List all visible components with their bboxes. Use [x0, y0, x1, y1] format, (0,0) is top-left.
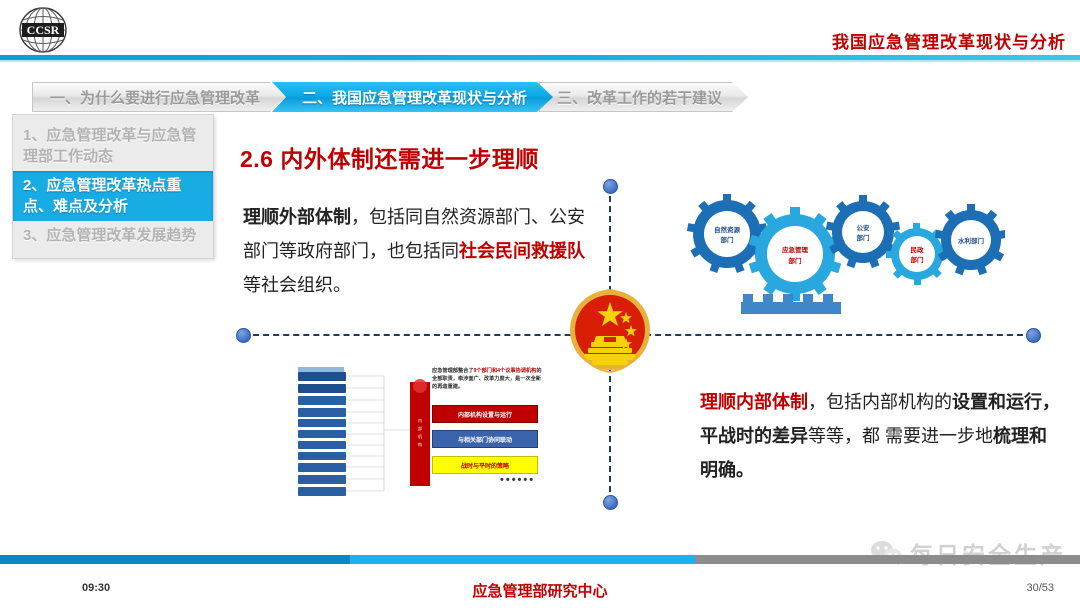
dot-right: [1026, 328, 1041, 343]
dot-left: [236, 328, 251, 343]
ccsr-globe-logo: CCSR: [12, 6, 74, 54]
subnav-item-3[interactable]: 3、应急管理改革发展趋势: [13, 221, 213, 250]
section-subnav: 1、应急管理改革与应急管理部工作动态 2、应急管理改革热点重点、难点及分析 3、…: [12, 114, 214, 259]
watermark-text: 每日安全生产: [910, 536, 1066, 570]
figure-box-column: [298, 367, 346, 496]
tab-chapter-2-label: 二、我国应急管理改革现状与分析: [302, 87, 527, 108]
gear-1-label-1: 自然资源: [714, 225, 741, 234]
paragraph-outer-system: 理顺外部体制，包括同自然资源部门、公安部门等政府部门，也包括同社会民间救援队等社…: [243, 200, 593, 302]
dot-bottom: [603, 495, 618, 510]
gear-3-label-1: 公安: [857, 223, 871, 232]
watermark: 每日安全生产: [870, 536, 1066, 570]
svg-text:机: 机: [418, 433, 422, 439]
footer-bar-segment-2: [350, 555, 695, 564]
gear-1-label-2: 部门: [721, 235, 735, 244]
gear-4-label-2: 部门: [911, 255, 925, 264]
footer-bar-segment-1: [0, 555, 350, 564]
svg-text:构: 构: [418, 441, 422, 447]
dot-top: [603, 179, 618, 194]
tab-chapter-3[interactable]: 三、改革工作的若干建议: [539, 82, 748, 112]
subnav-item-1[interactable]: 1、应急管理改革与应急管理部工作动态: [13, 121, 213, 171]
subnav-item-2[interactable]: 2、应急管理改革热点重点、难点及分析: [13, 171, 213, 221]
gear-department-diagram: 自然资源 部门 应急管理: [685, 192, 1005, 317]
slide-title: 2.6 内外体制还需进一步理顺: [240, 140, 539, 174]
gear-5: 水利部门: [935, 204, 1005, 275]
svg-text:内: 内: [418, 417, 422, 423]
footer-page-number: 30/53: [1026, 582, 1054, 594]
paragraph-inner-system: 理顺内部体制，包括内部机构的设置和运行，平战时的差异等等，都 需要进一步地梳理和…: [700, 385, 1060, 487]
gear-3-label-2: 部门: [857, 233, 871, 242]
gear-rack: [741, 294, 841, 314]
paragraph-outer-highlight: 社会民间救援队: [459, 241, 585, 261]
footer-organization: 应急管理部研究中心: [0, 580, 1080, 601]
logo-text: CCSR: [27, 23, 60, 37]
tab-chapter-1[interactable]: 一、为什么要进行应急管理改革: [32, 82, 286, 112]
figure-caption-highlight: 9个部门和4个议事协调机构: [474, 368, 537, 374]
tab-chapter-1-label: 一、为什么要进行应急管理改革: [50, 87, 260, 108]
gear-4-label-1: 民政: [911, 245, 925, 254]
paragraph-inner-part1: ，包括内部机构的: [808, 392, 952, 412]
svg-text:部: 部: [418, 425, 422, 431]
footer-progress-bar: [0, 555, 1080, 564]
gear-2-label-2: 部门: [789, 256, 803, 265]
national-emblem-icon: [560, 280, 660, 383]
paragraph-outer-part2: 等社会组织。: [243, 275, 351, 295]
paragraph-inner-part2: 等等，都 需要进一步地: [808, 426, 993, 446]
gear-2-label-1: 应急管理: [782, 245, 809, 254]
tab-chapter-3-label: 三、改革工作的若干建议: [557, 87, 722, 108]
gear-1: 自然资源 部门: [687, 194, 767, 273]
figure-caption-prefix: 应急管理部整合了: [432, 368, 474, 374]
figure-tag-1: 内部机构设置与运行: [432, 405, 538, 423]
figure-tag-2: 与相关部门协同联动: [432, 430, 538, 448]
header-rule-light: [0, 60, 1080, 62]
header-title: 我国应急管理改革现状与分析: [832, 28, 1066, 53]
figure-tag-3: 战时与平时的策略: [432, 456, 538, 474]
figure-ellipsis: ••••••: [500, 474, 535, 486]
tab-chapter-2[interactable]: 二、我国应急管理改革现状与分析: [272, 82, 553, 112]
gear-2: 应急管理 部门: [749, 207, 841, 301]
chapter-tabs: 一、为什么要进行应急管理改革 二、我国应急管理改革现状与分析 三、改革工作的若干…: [32, 82, 734, 112]
paragraph-inner-lead: 理顺内部体制: [700, 392, 808, 412]
gear-5-label-1: 水利部门: [958, 236, 985, 245]
figure-caption: 应急管理部整合了9个部门和4个议事协调机构的全部职责，牵涉面广、改革力度大，是一…: [432, 367, 544, 391]
paragraph-outer-lead: 理顺外部体制: [243, 207, 351, 227]
